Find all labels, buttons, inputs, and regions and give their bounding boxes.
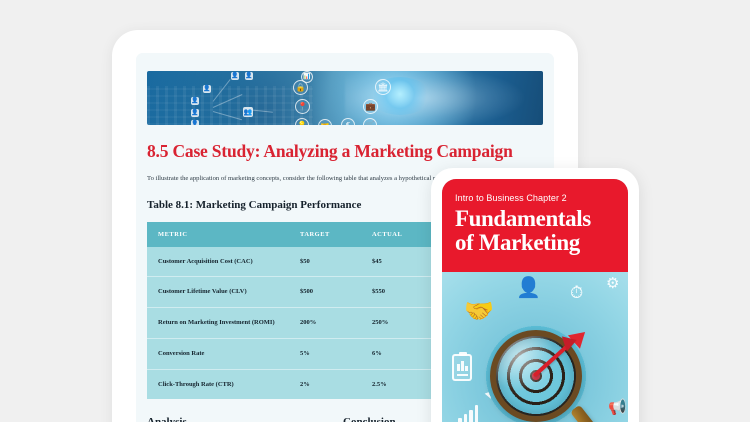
phone-hero-header: Intro to Business Chapter 2 Fundamentals… bbox=[442, 179, 628, 272]
handshake-icon: 🤝 bbox=[464, 300, 494, 324]
cell-actual: 6% bbox=[361, 338, 433, 369]
chart-icon: 📊 bbox=[301, 71, 313, 83]
cell-actual: $45 bbox=[361, 247, 433, 277]
cell-metric: Customer Acquisition Cost (CAC) bbox=[147, 247, 289, 277]
person-icon: 👤 bbox=[191, 109, 199, 117]
column-header-actual: ACTUAL bbox=[361, 222, 433, 247]
cell-target: 200% bbox=[289, 308, 361, 339]
clipboard-chart-icon bbox=[452, 354, 472, 381]
cell-actual: $550 bbox=[361, 277, 433, 308]
cell-metric: Customer Lifetime Value (CLV) bbox=[147, 277, 289, 308]
phone-title-line-2: of Marketing bbox=[455, 231, 615, 255]
cell-metric: Return on Marketing Investment (ROMI) bbox=[147, 308, 289, 339]
cell-metric: Conversion Rate bbox=[147, 338, 289, 369]
phone-illustration: 👤 ⏱ 🤝 ⚙ 📢 bbox=[442, 272, 628, 422]
phone-screen: Intro to Business Chapter 2 Fundamentals… bbox=[442, 179, 628, 422]
column-header-metric: METRIC bbox=[147, 222, 289, 247]
person-icon: 👤 bbox=[203, 85, 211, 93]
person-icon: 👤 bbox=[231, 72, 239, 80]
page-title: 8.5 Case Study: Analyzing a Marketing Ca… bbox=[147, 141, 543, 162]
analysis-heading: Analysis bbox=[147, 416, 343, 422]
chapter-kicker: Intro to Business Chapter 2 bbox=[455, 193, 615, 203]
magnifier-target-group bbox=[484, 324, 588, 422]
phone-side-button[interactable] bbox=[639, 250, 642, 284]
document-banner-image: 👤 👤 👤 👤 👤 👤 👥 🔒 📍 💡 🤝 📊 🏛 💼 € 🛒 bbox=[147, 71, 543, 125]
lightbulb-icon: 💡 bbox=[295, 118, 309, 125]
person-icon: 👤 bbox=[245, 72, 253, 80]
cell-actual: 2.5% bbox=[361, 369, 433, 399]
cell-target: 5% bbox=[289, 338, 361, 369]
cell-actual: 250% bbox=[361, 308, 433, 339]
column-header-target: TARGET bbox=[289, 222, 361, 247]
bank-icon: 🏛 bbox=[375, 79, 391, 95]
stopwatch-icon: ⏱ bbox=[570, 284, 583, 301]
bar-chart-growth-icon bbox=[458, 404, 478, 422]
currency-icon: € bbox=[341, 118, 355, 125]
cell-metric: Click-Through Rate (CTR) bbox=[147, 369, 289, 399]
person-icon: 👤 bbox=[191, 120, 199, 125]
phone-device: Intro to Business Chapter 2 Fundamentals… bbox=[431, 168, 639, 422]
gear-icon: ⚙ bbox=[606, 276, 619, 291]
cell-target: 2% bbox=[289, 369, 361, 399]
location-pin-icon: 📍 bbox=[295, 99, 310, 114]
phone-title-line-1: Fundamentals bbox=[455, 207, 615, 231]
cell-target: $500 bbox=[289, 277, 361, 308]
banner-cityscape bbox=[147, 86, 313, 125]
person-icon: 👤 bbox=[516, 278, 541, 298]
cell-target: $50 bbox=[289, 247, 361, 277]
person-icon: 👤 bbox=[191, 97, 199, 105]
magnifier-handle bbox=[570, 404, 607, 422]
scene-canvas: 👤 👤 👤 👤 👤 👤 👥 🔒 📍 💡 🤝 📊 🏛 💼 € 🛒 bbox=[0, 0, 750, 422]
conclusion-heading: Conclusion bbox=[343, 416, 396, 422]
shopping-cart-icon: 🛒 bbox=[363, 118, 377, 125]
briefcase-person-icon: 💼 bbox=[363, 99, 378, 114]
handshake-icon: 🤝 bbox=[318, 119, 332, 125]
megaphone-icon: 📢 bbox=[608, 400, 627, 415]
person-group-icon: 👥 bbox=[243, 107, 253, 117]
